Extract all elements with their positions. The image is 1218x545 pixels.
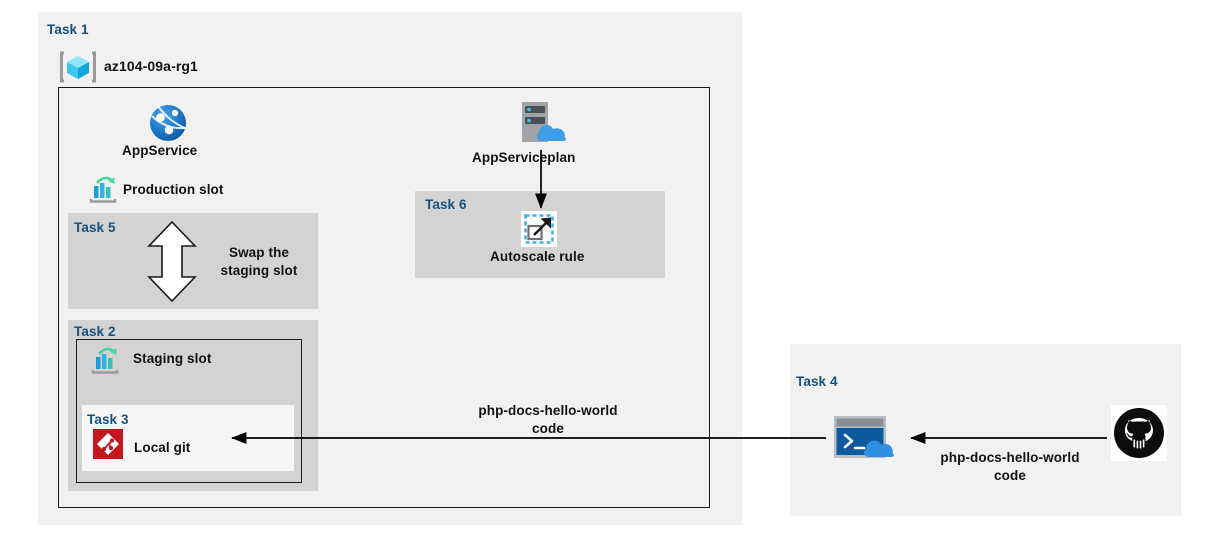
production-slot-label: Production slot — [123, 182, 224, 197]
github-icon — [1111, 405, 1167, 461]
app-service-icon — [149, 104, 187, 142]
task4-label: Task 4 — [796, 374, 838, 389]
autoscale-rule-label: Autoscale rule — [490, 249, 584, 264]
diagram-canvas: Task 1 az104-09a-rg1 — [0, 0, 1218, 545]
app-service-plan-icon — [513, 100, 569, 146]
center-code-line-1: php-docs-hello-world — [478, 403, 617, 418]
center-code-line-2: code — [532, 421, 564, 436]
deployment-slot-icon-staging — [90, 347, 120, 375]
center-code-annotation: php-docs-hello-worldcode — [448, 402, 648, 438]
task2-label: Task 2 — [74, 324, 116, 339]
right-code-line-1: php-docs-hello-world — [940, 450, 1079, 465]
resource-group-name: az104-09a-rg1 — [104, 58, 198, 74]
swap-line-2: staging slot — [221, 263, 298, 278]
right-code-annotation: php-docs-hello-worldcode — [912, 449, 1108, 485]
task1-label: Task 1 — [47, 22, 89, 37]
task3-label: Task 3 — [87, 412, 129, 427]
swap-double-arrow-icon — [146, 221, 198, 302]
cloud-shell-icon — [833, 415, 901, 461]
task5-label: Task 5 — [74, 220, 116, 235]
git-icon — [93, 429, 123, 459]
app-service-plan-label: AppServiceplan — [472, 150, 575, 165]
deployment-slot-icon — [88, 176, 118, 204]
local-git-label: Local git — [134, 440, 190, 455]
staging-slot-label: Staging slot — [133, 351, 211, 366]
task6-label: Task 6 — [425, 197, 467, 212]
swap-line-1: Swap the — [229, 245, 289, 260]
resource-group-icon — [60, 50, 96, 84]
app-service-label: AppService — [122, 143, 197, 158]
autoscale-icon — [521, 211, 557, 247]
right-code-line-2: code — [994, 468, 1026, 483]
swap-annotation: Swap thestaging slot — [204, 244, 314, 280]
